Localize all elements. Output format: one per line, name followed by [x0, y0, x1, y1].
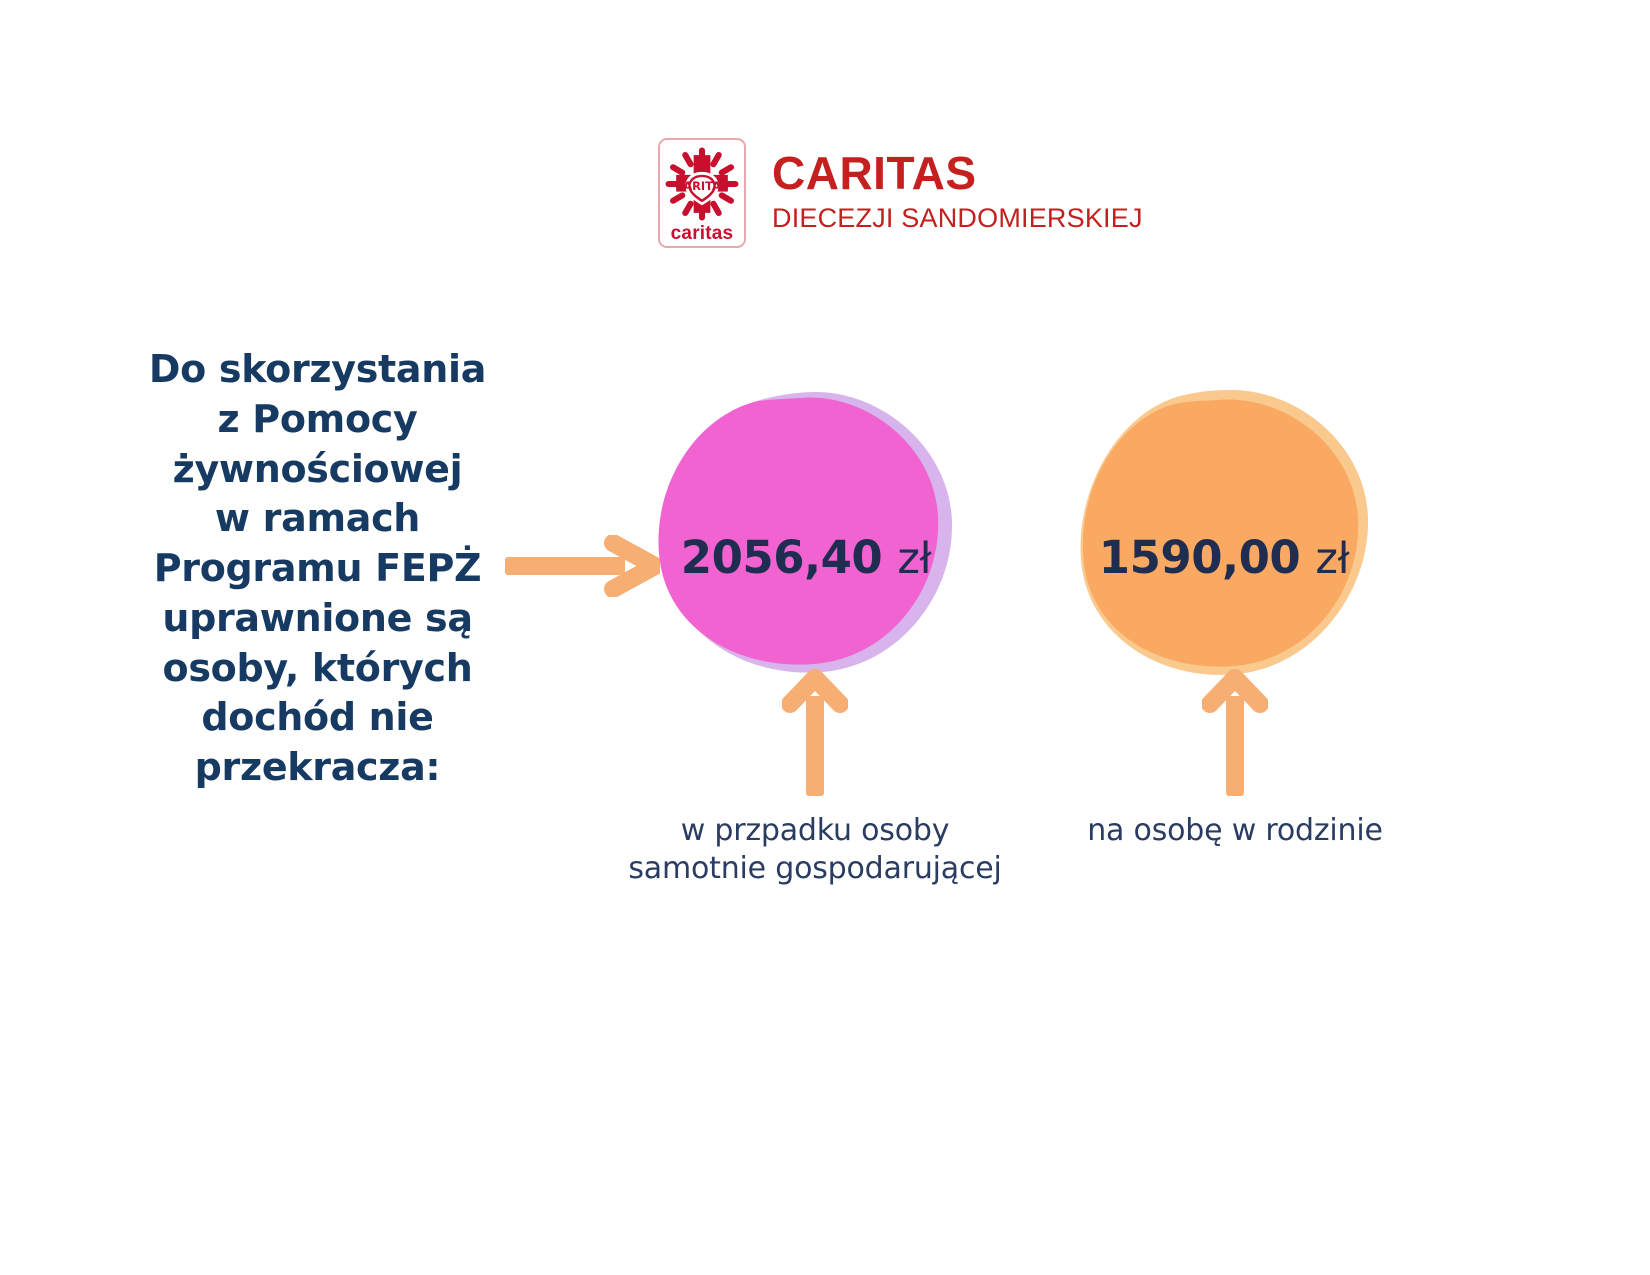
lead-line: przekracza: [120, 743, 515, 793]
lead-line: Programu FEPŻ [120, 544, 515, 594]
arrow-up-icon [782, 668, 848, 796]
arrow-right-icon [505, 535, 660, 597]
threshold-blob-family: 1590,00 zł [1068, 382, 1380, 684]
infographic-canvas: CARITAS caritas CARITAS DIECEZJI SANDOMI… [0, 0, 1650, 1275]
threshold-blob-single: 2056,40 zł [650, 382, 962, 684]
threshold-currency-family: zł [1315, 534, 1349, 584]
caritas-mark-inner-text: CARITAS [675, 179, 729, 193]
threshold-value-single: 2056,40 zł [681, 531, 931, 584]
threshold-caption-family: na osobę w rodzinie [1035, 812, 1435, 850]
threshold-caption-single: w przpadku osoby samotnie gospodarującej [615, 812, 1015, 889]
caritas-logo-mark: CARITAS caritas [658, 138, 746, 248]
lead-line: żywnościowej [120, 445, 515, 495]
eligibility-lead-text: Do skorzystania z Pomocy żywnościowej w … [120, 345, 515, 793]
caritas-logo: CARITAS caritas CARITAS DIECEZJI SANDOMI… [658, 138, 1143, 248]
threshold-value-family: 1590,00 zł [1099, 531, 1349, 584]
lead-line: osoby, których [120, 644, 515, 694]
threshold-currency-single: zł [897, 534, 931, 584]
caritas-cross-icon: CARITAS [664, 146, 740, 222]
lead-line: uprawnione są [120, 594, 515, 644]
caption-line: na osobę w rodzinie [1035, 812, 1435, 850]
caritas-logo-wordmark: CARITAS DIECEZJI SANDOMIERSKIEJ [772, 138, 1143, 232]
lead-line: w ramach [120, 494, 515, 544]
caritas-logo-title: CARITAS [772, 150, 1143, 196]
threshold-amount-family: 1590,00 [1099, 531, 1300, 584]
threshold-amount-single: 2056,40 [681, 531, 882, 584]
caritas-logo-mark-word: caritas [671, 224, 734, 243]
caption-line: w przpadku osoby [615, 812, 1015, 850]
arrow-up-icon [1202, 668, 1268, 796]
lead-line: z Pomocy [120, 395, 515, 445]
caritas-logo-subtitle: DIECEZJI SANDOMIERSKIEJ [772, 205, 1143, 232]
lead-line: dochód nie [120, 693, 515, 743]
caption-line: samotnie gospodarującej [615, 850, 1015, 888]
lead-line: Do skorzystania [120, 345, 515, 395]
